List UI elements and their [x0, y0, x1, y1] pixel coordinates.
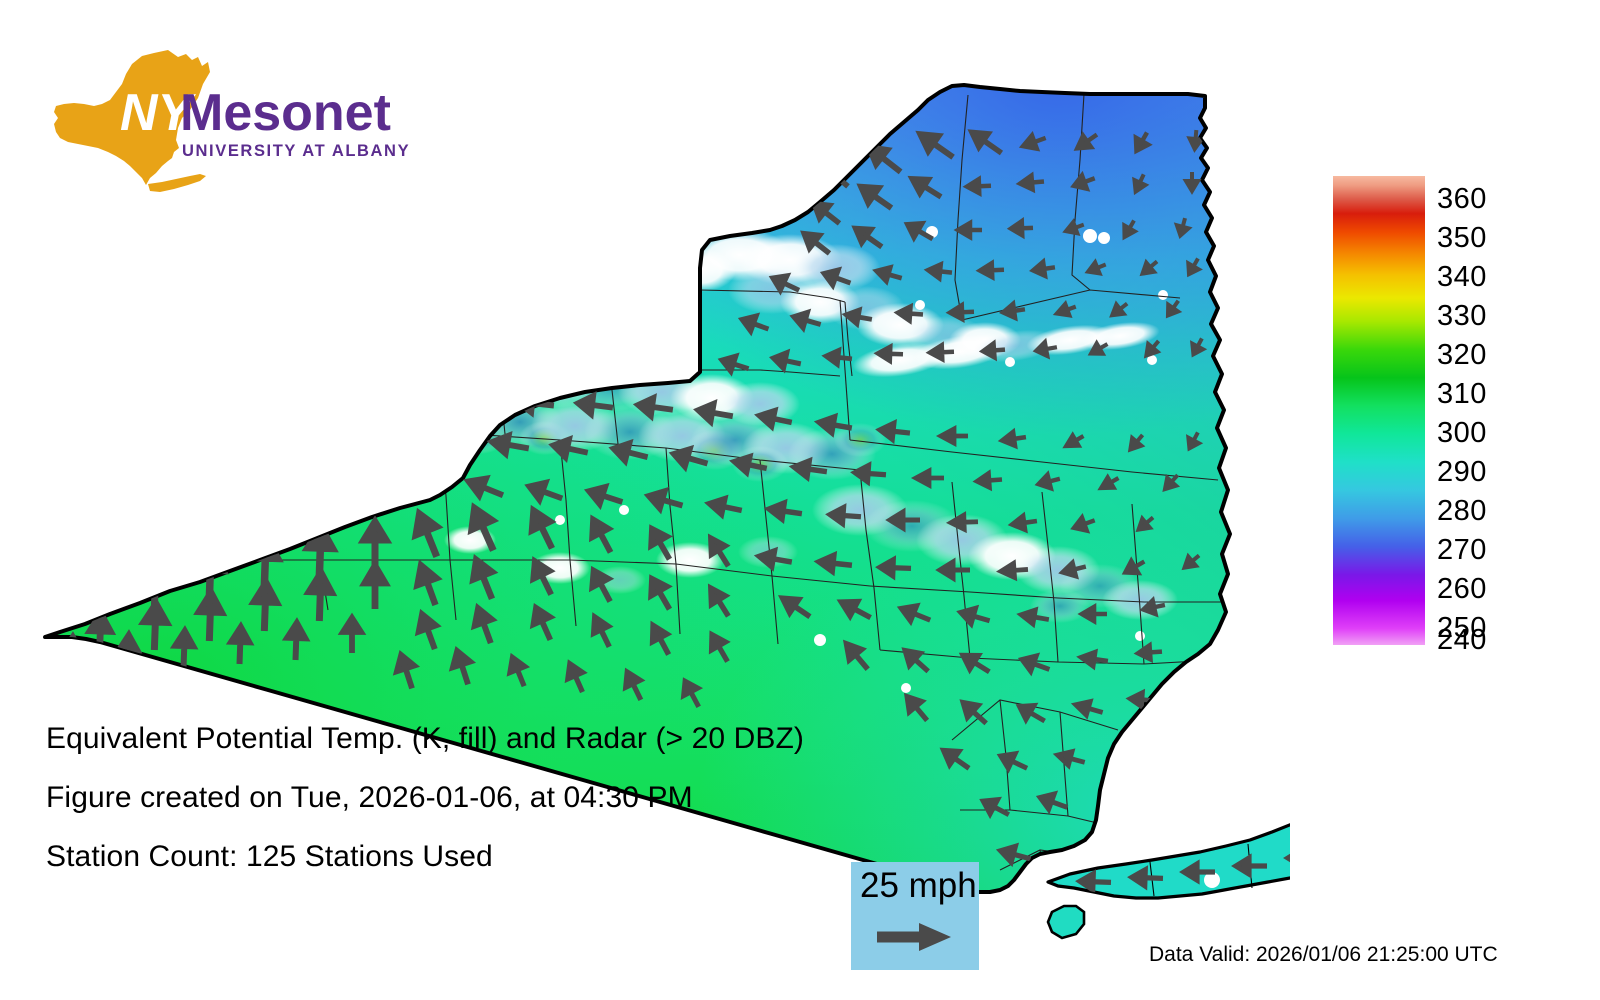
colorbar-gradient — [1333, 176, 1425, 645]
station-count-caption: Station Count: 125 Stations Used — [46, 840, 493, 874]
colorbar-tick-290: 290 — [1437, 458, 1487, 487]
wind-reference-arrow-icon — [875, 920, 955, 954]
colorbar-tick-340: 340 — [1437, 263, 1487, 292]
plot-title-caption: Equivalent Potential Temp. (K, fill) and… — [46, 722, 804, 756]
data-valid-timestamp: Data Valid: 2026/01/06 21:25:00 UTC — [1149, 943, 1498, 967]
colorbar-tick-350: 350 — [1437, 224, 1487, 253]
wind-legend-label: 25 mph — [860, 866, 977, 906]
colorbar-tick-240: 240 — [1437, 626, 1487, 655]
colorbar-tick-260: 260 — [1437, 575, 1487, 604]
colorbar-tick-310: 310 — [1437, 380, 1487, 409]
colorbar-tick-280: 280 — [1437, 497, 1487, 526]
colorbar-tick-330: 330 — [1437, 302, 1487, 331]
wind-speed-legend: 25 mph — [851, 862, 979, 970]
colorbar-tick-360: 360 — [1437, 185, 1487, 214]
colorbar-tick-300: 300 — [1437, 419, 1487, 448]
figure-created-caption: Figure created on Tue, 2026-01-06, at 04… — [46, 781, 693, 815]
colorbar-tick-320: 320 — [1437, 341, 1487, 370]
colorbar: 360 350 340 330 320 310 300 290 280 270 … — [1333, 176, 1583, 656]
colorbar-tick-270: 270 — [1437, 536, 1487, 565]
